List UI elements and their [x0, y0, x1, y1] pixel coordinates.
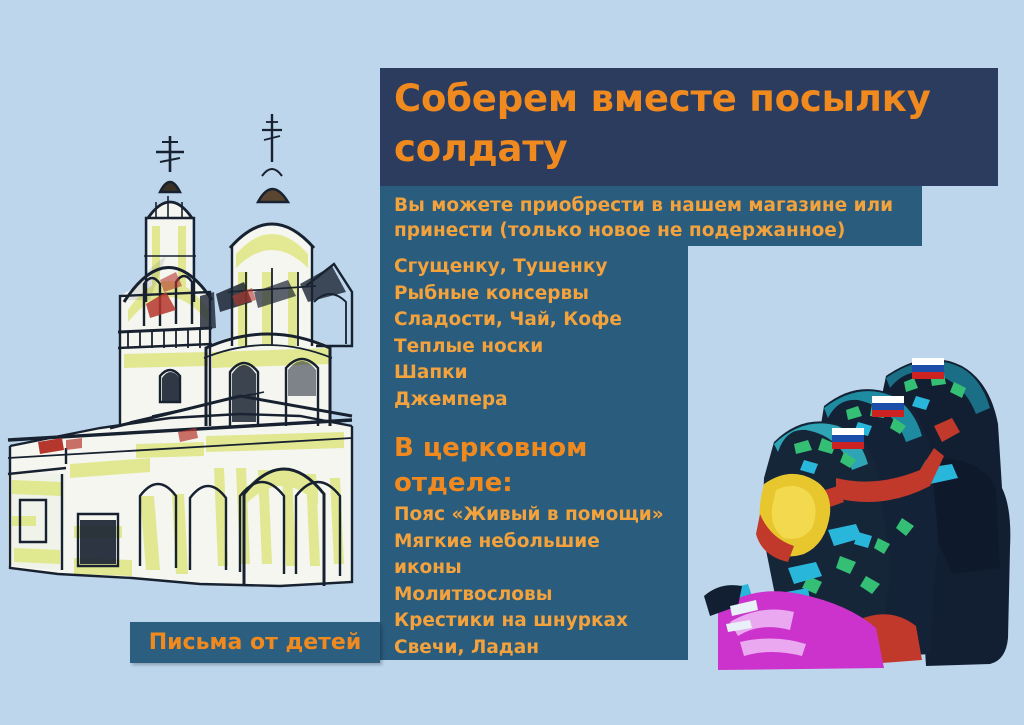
church-items-list: Пояс «Живый в помощи» Мягкие небольшие и…	[394, 502, 684, 661]
list-item: Мягкие небольшие	[394, 529, 684, 556]
list-item: Шапки	[394, 360, 684, 387]
orthodox-church-illustration	[0, 96, 376, 620]
soldiers-svg	[690, 338, 1024, 680]
soldiers-silhouette-illustration	[690, 338, 1024, 680]
poster-canvas: Соберем вместе посылку солдату Вы можете…	[0, 0, 1024, 725]
church-svg	[0, 96, 376, 620]
flag-patch-rear	[912, 358, 944, 379]
flag-patch-front	[832, 428, 864, 449]
church-section-heading: В церковном отделе:	[394, 431, 684, 501]
body-panel: Сгущенку, Тушенку Рыбные консервы Сладос…	[380, 246, 688, 660]
list-item: Теплые носки	[394, 334, 684, 361]
list-item: Свечи, Ладан	[394, 635, 684, 662]
list-item: Джемпера	[394, 387, 684, 414]
letters-banner-label: Письма от детей	[130, 622, 380, 663]
list-item: Крестики на шнурках	[394, 608, 684, 635]
goods-list: Сгущенку, Тушенку Рыбные консервы Сладос…	[394, 254, 684, 413]
flag-patch-middle	[872, 396, 904, 417]
poster-subtitle: Вы можете приобрести в нашем магазине ил…	[394, 193, 914, 243]
letters-banner: Письма от детей	[130, 622, 380, 663]
list-item: Рыбные консервы	[394, 281, 684, 308]
soldier-scarf-fold	[772, 486, 816, 539]
subtitle-panel: Вы можете приобрести в нашем магазине ил…	[380, 186, 922, 246]
list-item: Сгущенку, Тушенку	[394, 254, 684, 281]
list-item: Сладости, Чай, Кофе	[394, 307, 684, 334]
title-panel: Соберем вместе посылку солдату	[380, 68, 998, 186]
list-item: иконы	[394, 555, 684, 582]
list-item: Молитвословы	[394, 582, 684, 609]
list-item: Пояс «Живый в помощи»	[394, 502, 684, 529]
poster-title: Соберем вместе посылку солдату	[394, 74, 994, 174]
